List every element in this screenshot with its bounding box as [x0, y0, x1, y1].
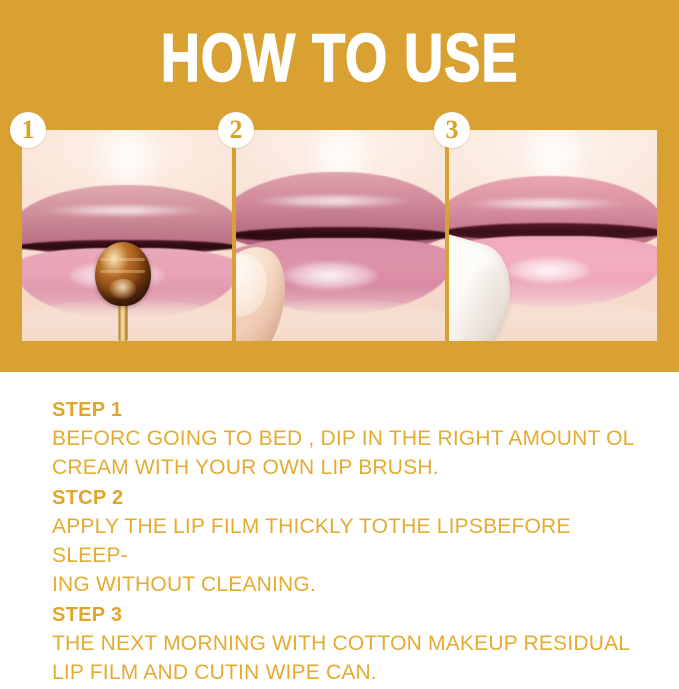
applicator-gloss-highlight — [109, 279, 136, 299]
steps-text-section: STEP 1 BEFORC GOING TO BED , DIP IN THE … — [52, 396, 652, 689]
step-3-line-1: THE NEXT MORNING WITH COTTON MAKEUP RESI… — [52, 629, 652, 658]
upper-lip-highlight — [465, 199, 628, 208]
step-block-1: STEP 1 BEFORC GOING TO BED , DIP IN THE … — [52, 396, 652, 482]
step-2-line-1: APPLY THE LIP FILM THICKLY TOTHE LIPSBEF… — [52, 512, 652, 570]
how-to-use-infographic: HOW TO USE — [0, 0, 679, 679]
step-badge-2: 2 — [218, 112, 254, 148]
applicator-band-upper — [100, 258, 145, 261]
step-1-heading: STEP 1 — [52, 396, 652, 424]
fingernail-icon — [236, 248, 274, 322]
step-badge-1: 1 — [10, 112, 46, 148]
step-1-line-1: BEFORC GOING TO BED , DIP IN THE RIGHT A… — [52, 424, 652, 453]
page-title: HOW TO USE — [68, 24, 611, 92]
step-photo-2 — [236, 130, 446, 341]
step-3-line-2: LIP FILM AND CUTIN WIPE CAN. — [52, 658, 652, 687]
applicator-balm-head-icon — [95, 242, 151, 306]
step-photo-1 — [22, 130, 232, 341]
applicator-band-lower — [100, 270, 145, 273]
step-3-heading: STEP 3 — [52, 601, 652, 629]
photo-strip — [22, 130, 657, 341]
step-2-line-2: ING WITHOUT CLEANING. — [52, 570, 652, 599]
lower-lip-highlight — [507, 257, 590, 284]
step-1-line-2: CREAM WITH YOUR OWN LIP BRUSH. — [52, 453, 652, 482]
upper-lip-highlight — [42, 206, 206, 215]
step-block-2: STCP 2 APPLY THE LIP FILM THICKLY TOTHE … — [52, 484, 652, 599]
step-2-heading: STCP 2 — [52, 484, 652, 512]
step-badge-3: 3 — [434, 112, 470, 148]
step-block-3: STEP 3 THE NEXT MORNING WITH COTTON MAKE… — [52, 601, 652, 687]
step-photo-3 — [449, 130, 657, 341]
upper-lip-highlight — [252, 196, 416, 206]
